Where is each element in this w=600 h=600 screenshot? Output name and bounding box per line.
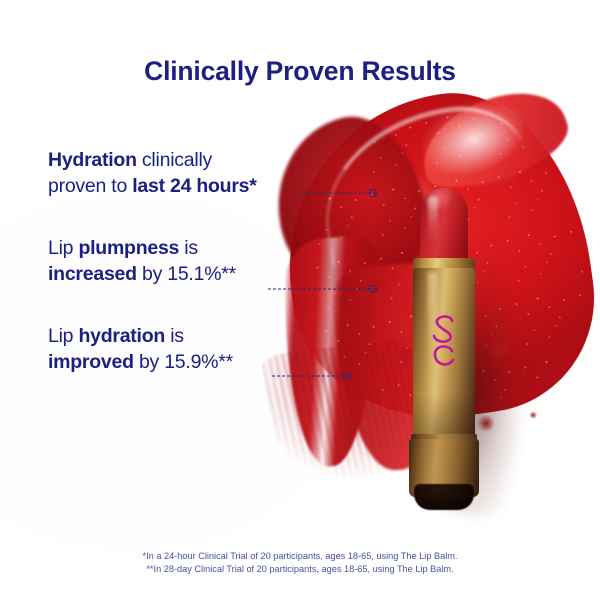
page-title: Clinically Proven Results (0, 56, 600, 87)
claim-line-2: improved by 15.9%** (48, 350, 348, 376)
claim-plumpness: Lip plumpness is increased by 15.1%** (48, 236, 348, 287)
footnotes: *In a 24-hour Clinical Trial of 20 parti… (0, 550, 600, 575)
claim-line-2: proven to last 24 hours* (48, 174, 348, 200)
footnote-line-2: **In 28-day Clinical Trial of 20 partici… (0, 563, 600, 576)
claims-list: Hydration clinically proven to last 24 h… (48, 148, 348, 375)
footnote-line-1: *In a 24-hour Clinical Trial of 20 parti… (0, 550, 600, 563)
lip-balm-tube (398, 188, 528, 518)
claim-line-1: Hydration clinically (48, 148, 348, 174)
product-claims-graphic: Clinically Proven Results Hydration clin… (0, 0, 600, 600)
bullet-highlight (428, 196, 438, 246)
claim-hydration-improved: Lip hydration is improved by 15.9%** (48, 324, 348, 375)
tube-foot (414, 484, 474, 510)
brand-monogram-sc-icon (422, 312, 466, 370)
claim-line-1: Lip hydration is (48, 324, 348, 350)
claim-line-1: Lip plumpness is (48, 236, 348, 262)
claim-line-2: increased by 15.1%** (48, 262, 348, 288)
claim-hydration-24h: Hydration clinically proven to last 24 h… (48, 148, 348, 199)
